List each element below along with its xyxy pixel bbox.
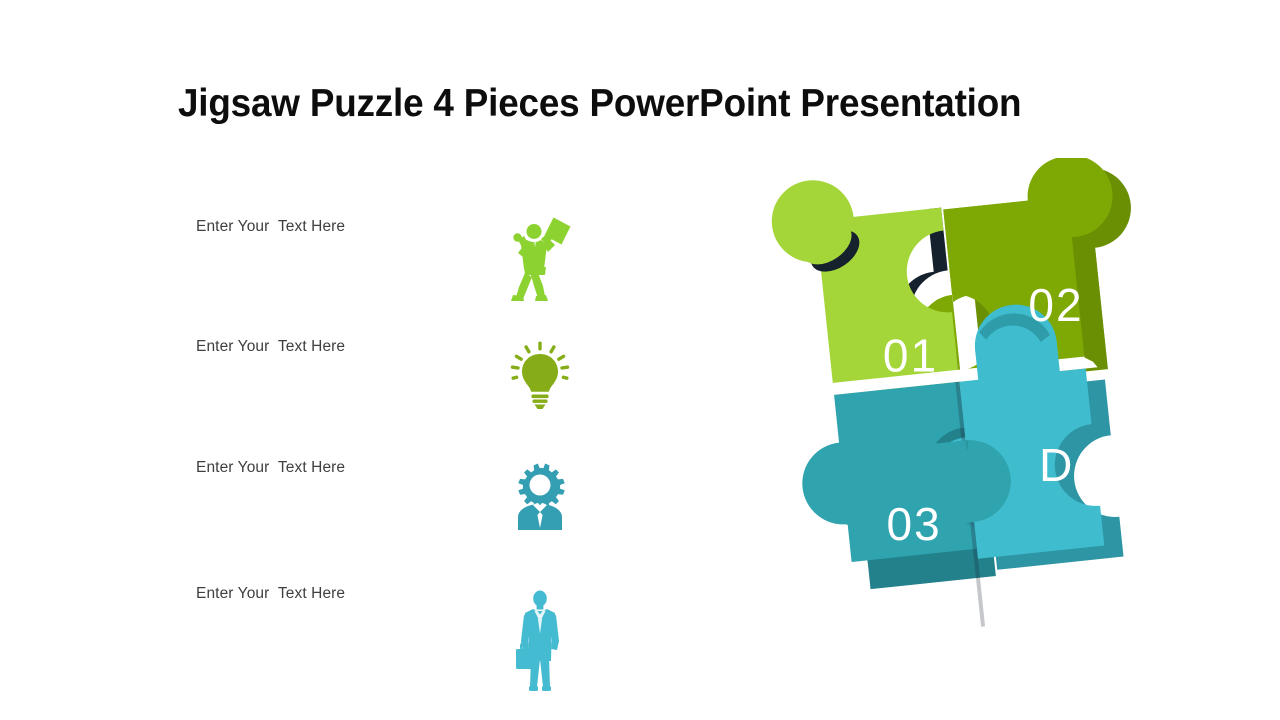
text-icon-list: Enter Your Text Here <box>0 0 620 720</box>
businessman-celebrating-icon <box>495 202 585 312</box>
puzzle-label-04: D <box>1039 439 1074 491</box>
businessman-briefcase-icon <box>495 588 585 698</box>
list-item[interactable]: Enter Your Text Here <box>196 460 596 580</box>
list-item-label: Enter Your Text Here <box>196 460 345 476</box>
list-item-label: Enter Your Text Here <box>196 219 345 235</box>
lightbulb-idea-icon <box>495 322 585 432</box>
list-item[interactable]: Enter Your Text Here <box>196 219 596 339</box>
jigsaw-puzzle-graphic: 01 02 03 D <box>718 158 1178 638</box>
list-item[interactable]: Enter Your Text Here <box>196 586 596 706</box>
list-item-label: Enter Your Text Here <box>196 339 345 355</box>
list-item-label: Enter Your Text Here <box>196 586 345 602</box>
puzzle-label-03: 03 <box>887 498 942 550</box>
puzzle-label-01: 01 <box>883 330 938 382</box>
list-item[interactable]: Enter Your Text Here <box>196 339 596 459</box>
gear-head-person-icon <box>495 443 585 553</box>
puzzle-label-02: 02 <box>1028 279 1083 331</box>
